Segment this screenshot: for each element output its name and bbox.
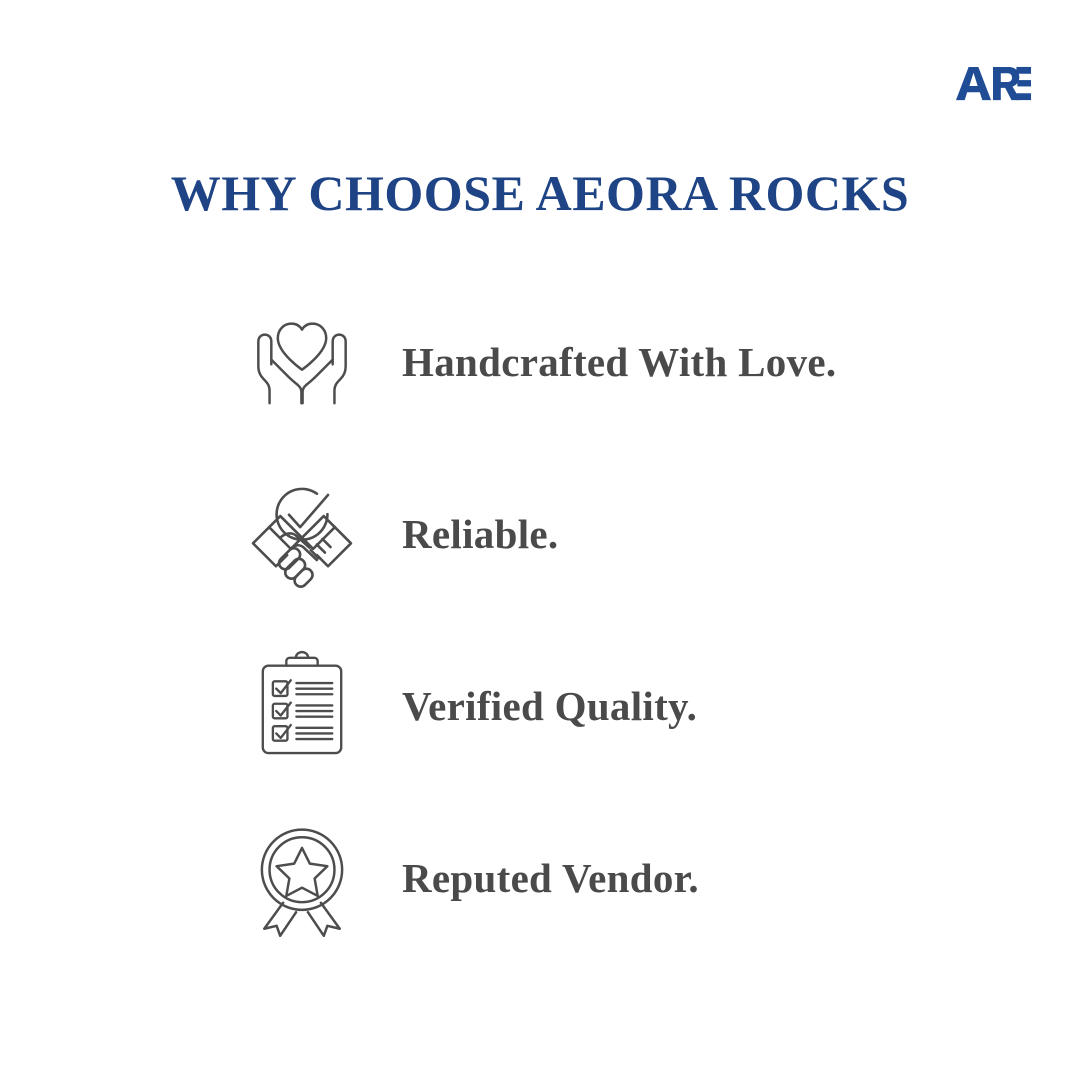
feature-label: Handcrafted With Love. [402, 338, 836, 386]
hands-holding-heart-icon [238, 298, 366, 426]
feature-row-handcrafted: Handcrafted With Love. [238, 276, 938, 448]
feature-list: Handcrafted With Love. [238, 276, 938, 964]
page-title: WHY CHOOSE AEORA ROCKS [0, 166, 1080, 220]
feature-label: Reputed Vendor. [402, 854, 699, 902]
are-logo[interactable] [954, 62, 1032, 106]
feature-label: Reliable. [402, 510, 558, 558]
feature-row-reliable: Reliable. [238, 448, 938, 620]
handshake-check-icon [238, 470, 366, 598]
feature-label: Verified Quality. [402, 682, 697, 730]
clipboard-checklist-icon [238, 642, 366, 770]
award-ribbon-star-icon [238, 814, 366, 942]
feature-row-reputed: Reputed Vendor. [238, 792, 938, 964]
feature-row-verified: Verified Quality. [238, 620, 938, 792]
